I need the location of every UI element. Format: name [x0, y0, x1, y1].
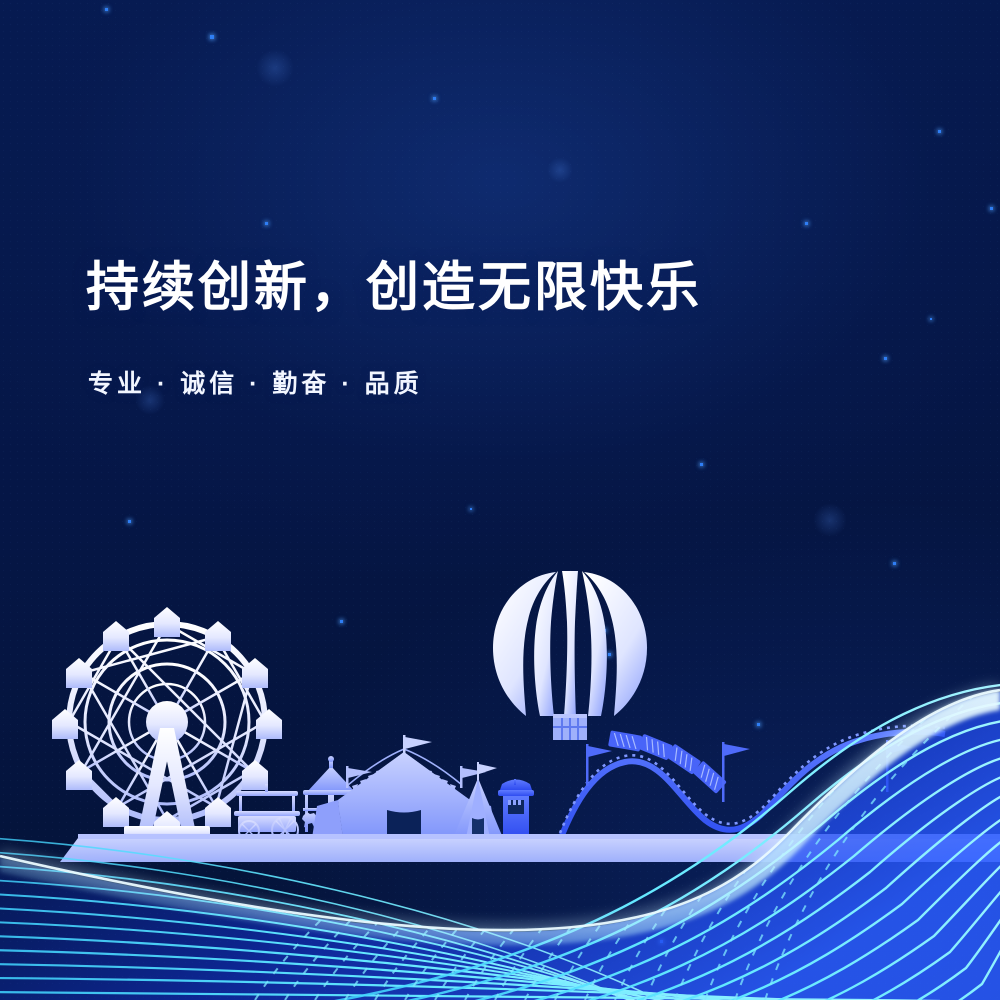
hero-text-block: 持续创新，创造无限快乐 专业 · 诚信 · 勤奋 · 品质 — [86, 258, 702, 400]
page-subtitle: 专业 · 诚信 · 勤奋 · 品质 — [88, 364, 702, 400]
glow-wave-mesh — [0, 0, 1000, 1000]
page-title: 持续创新，创造无限快乐 — [86, 258, 702, 317]
banner-canvas: 持续创新，创造无限快乐 专业 · 诚信 · 勤奋 · 品质 — [0, 0, 1000, 1000]
wave-body-fill — [0, 692, 1000, 1000]
